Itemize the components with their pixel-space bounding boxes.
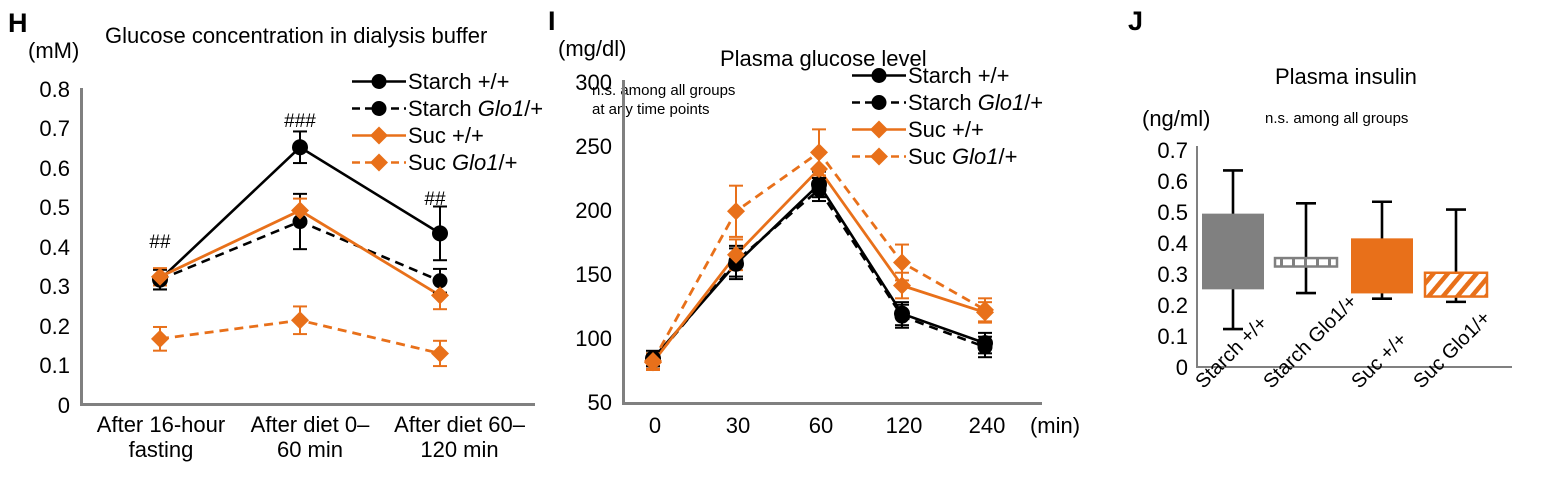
panel-h-title: Glucose concentration in dialysis buffer xyxy=(105,25,487,47)
panel-i-xtick-4: 240 xyxy=(957,413,1017,438)
panel-h-legend-item-3: Suc Glo1/+ xyxy=(350,149,543,176)
panel-j-note: n.s. among all groups xyxy=(1265,110,1408,129)
panel-h: H (mM) Glucose concentration in dialysis… xyxy=(0,0,540,484)
panel-j-y-unit: (ng/ml) xyxy=(1142,108,1210,130)
panel-h-legend-label-2: Suc +/+ xyxy=(408,125,484,147)
panel-i-legend-item-2: Suc +/+ xyxy=(850,116,1043,143)
panel-h-legend: Starch +/+ Starch Glo1/+ Suc +/+ Suc Glo… xyxy=(350,68,543,176)
panel-h-legend-item-2: Suc +/+ xyxy=(350,122,543,149)
panel-i-legend-label-3: Suc Glo1/+ xyxy=(908,146,1017,168)
panel-i-x-unit: (min) xyxy=(1010,413,1100,438)
panel-j-xtick-1: Starch Glo1/+ xyxy=(1260,291,1361,392)
panel-j-y-axis xyxy=(1196,146,1198,368)
panel-i-legend-label-2: Suc +/+ xyxy=(908,119,984,141)
panel-i-legend-item-0: Starch +/+ xyxy=(850,62,1043,89)
panel-h-ytick-6: 0.2 xyxy=(18,316,70,338)
panel-j-title: Plasma insulin xyxy=(1275,66,1417,88)
legend-symbol-suc-wt xyxy=(350,122,408,149)
panel-i-ytick-3: 150 xyxy=(550,264,612,286)
panel-h-y-unit: (mM) xyxy=(28,40,79,62)
panel-i-legend: Starch +/+ Starch Glo1/+ Suc +/+ Suc Glo… xyxy=(850,62,1043,170)
panel-j-x-axis xyxy=(1196,366,1512,368)
panel-h-ytick-8: 0 xyxy=(18,395,70,417)
panel-i-legend-label-0: Starch +/+ xyxy=(908,65,1010,87)
legend-symbol-suc-wt xyxy=(850,116,908,143)
panel-i-ytick-5: 50 xyxy=(550,392,612,414)
panel-i-ytick-2: 200 xyxy=(550,200,612,222)
panel-h-legend-label-0: Starch +/+ xyxy=(408,71,510,93)
panel-i-xtick-0: 0 xyxy=(625,413,685,438)
panel-i-xtick-1: 30 xyxy=(708,413,768,438)
legend-symbol-starch-glo1 xyxy=(850,89,908,116)
panel-h-legend-item-0: Starch +/+ xyxy=(350,68,543,95)
panel-h-sig-2: ## xyxy=(395,190,475,209)
panel-j-ytick-5: 0.2 xyxy=(1130,295,1188,317)
panel-h-x-axis xyxy=(80,403,535,406)
panel-h-ytick-1: 0.7 xyxy=(18,118,70,140)
legend-symbol-starch-glo1 xyxy=(350,95,408,122)
panel-h-sig-1: ### xyxy=(260,112,340,131)
figure-panels-hij: H (mM) Glucose concentration in dialysis… xyxy=(0,0,1542,484)
panel-j-xtick-0: Starch +/+ xyxy=(1192,313,1271,392)
panel-j-xtick-2: Suc +/+ xyxy=(1348,329,1411,392)
panel-i-xtick-3: 120 xyxy=(874,413,934,438)
panel-j-ytick-7: 0 xyxy=(1130,357,1188,379)
legend-symbol-starch-wt xyxy=(850,62,908,89)
panel-letter-j: J xyxy=(1128,8,1143,35)
panel-i-ytick-0: 300 xyxy=(550,72,612,94)
panel-h-ytick-2: 0.6 xyxy=(18,158,70,180)
panel-i-y-axis xyxy=(622,80,625,405)
panel-i-legend-item-3: Suc Glo1/+ xyxy=(850,143,1043,170)
panel-h-y-axis xyxy=(80,88,83,406)
panel-i: I (mg/dl) Plasma glucose level n.s. amon… xyxy=(540,0,1100,484)
panel-h-ytick-4: 0.4 xyxy=(18,237,70,259)
legend-symbol-starch-wt xyxy=(350,68,408,95)
panel-h-xtick-0: After 16-hourfasting xyxy=(86,412,236,463)
panel-j-ytick-6: 0.1 xyxy=(1130,326,1188,348)
panel-j: J Plasma insulin (ng/ml) n.s. among all … xyxy=(1100,0,1542,484)
panel-h-ytick-3: 0.5 xyxy=(18,197,70,219)
panel-h-legend-item-1: Starch Glo1/+ xyxy=(350,95,543,122)
panel-i-ytick-1: 250 xyxy=(550,136,612,158)
panel-i-ytick-4: 100 xyxy=(550,328,612,350)
panel-j-ytick-4: 0.3 xyxy=(1130,264,1188,286)
panel-h-sig-0: ## xyxy=(120,233,200,252)
panel-letter-h: H xyxy=(8,10,28,37)
panel-j-ytick-2: 0.5 xyxy=(1130,202,1188,224)
legend-symbol-suc-glo1 xyxy=(850,143,908,170)
panel-h-ytick-7: 0.1 xyxy=(18,355,70,377)
panel-i-legend-label-1: Starch Glo1/+ xyxy=(908,92,1043,114)
panel-j-ytick-1: 0.6 xyxy=(1130,171,1188,193)
panel-i-y-unit: (mg/dl) xyxy=(558,38,626,60)
panel-j-xtick-3: Suc Glo1/+ xyxy=(1410,308,1495,393)
panel-h-xtick-2: After diet 60–120 min xyxy=(382,412,537,463)
panel-h-ytick-0: 0.8 xyxy=(18,79,70,101)
panel-letter-i: I xyxy=(548,8,556,35)
panel-h-ytick-5: 0.3 xyxy=(18,276,70,298)
panel-i-legend-item-1: Starch Glo1/+ xyxy=(850,89,1043,116)
panel-j-ytick-0: 0.7 xyxy=(1130,140,1188,162)
panel-j-ytick-3: 0.4 xyxy=(1130,233,1188,255)
panel-i-x-axis xyxy=(622,402,1042,405)
panel-i-note: n.s. among all groupsat any time points xyxy=(592,82,735,120)
panel-h-legend-label-1: Starch Glo1/+ xyxy=(408,98,543,120)
legend-symbol-suc-glo1 xyxy=(350,149,408,176)
panel-i-xtick-2: 60 xyxy=(791,413,851,438)
panel-h-legend-label-3: Suc Glo1/+ xyxy=(408,152,517,174)
panel-h-xtick-1: After diet 0–60 min xyxy=(235,412,385,463)
